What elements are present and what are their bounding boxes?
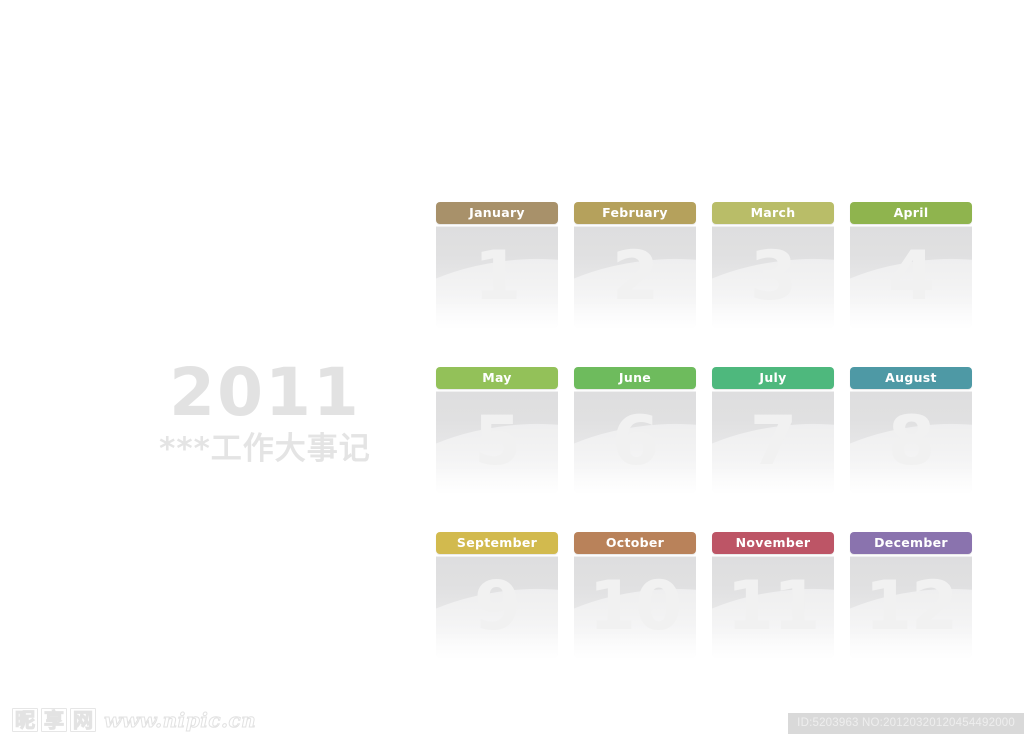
month-card-january[interactable]: January1 [436,202,558,328]
month-body-panel[interactable]: 9 [436,556,558,658]
month-body-panel[interactable]: 8 [850,391,972,493]
month-card-july[interactable]: July7 [712,367,834,493]
site-watermark: 昵享网 www.nipic.cn [12,708,256,732]
month-body-panel[interactable]: 1 [436,226,558,328]
month-number-watermark: 12 [850,573,972,641]
month-card-october[interactable]: October10 [574,532,696,658]
month-body-panel[interactable]: 2 [574,226,696,328]
month-card-february[interactable]: February2 [574,202,696,328]
watermark-logo-char: 享 [41,708,67,732]
watermark-logo-char: 网 [70,708,96,732]
month-number-watermark: 5 [436,408,558,476]
month-body-panel[interactable]: 7 [712,391,834,493]
month-card-march[interactable]: March3 [712,202,834,328]
watermark-url: www.nipic.cn [104,708,256,732]
page-title-year: 2011 [100,360,430,426]
month-card-june[interactable]: June6 [574,367,696,493]
calendar-canvas: 2011 ***工作大事记 January1February2March3Apr… [0,0,1024,740]
month-header-label[interactable]: September [436,532,558,554]
month-body-panel[interactable]: 10 [574,556,696,658]
month-card-december[interactable]: December12 [850,532,972,658]
image-id-bar: ID:5203963 NO:20120320120454492000 [788,713,1024,734]
month-header-label[interactable]: August [850,367,972,389]
month-body-panel[interactable]: 12 [850,556,972,658]
month-header-label[interactable]: April [850,202,972,224]
month-card-september[interactable]: September9 [436,532,558,658]
month-number-watermark: 3 [712,243,834,311]
month-header-label[interactable]: October [574,532,696,554]
month-number-watermark: 7 [712,408,834,476]
month-card-august[interactable]: August8 [850,367,972,493]
month-card-november[interactable]: November11 [712,532,834,658]
month-header-label[interactable]: January [436,202,558,224]
month-number-watermark: 10 [574,573,696,641]
month-number-watermark: 9 [436,573,558,641]
month-body-panel[interactable]: 4 [850,226,972,328]
calendar-month-grid: January1February2March3April4May5June6Ju… [436,202,972,658]
month-card-april[interactable]: April4 [850,202,972,328]
month-header-label[interactable]: June [574,367,696,389]
month-number-watermark: 8 [850,408,972,476]
month-body-panel[interactable]: 5 [436,391,558,493]
page-title-subtitle: ***工作大事记 [100,432,430,466]
month-body-panel[interactable]: 11 [712,556,834,658]
watermark-logo-char: 昵 [12,708,38,732]
watermark-logo-icon: 昵享网 [12,708,96,732]
month-header-label[interactable]: February [574,202,696,224]
month-header-label[interactable]: December [850,532,972,554]
month-header-label[interactable]: July [712,367,834,389]
month-number-watermark: 1 [436,243,558,311]
month-body-panel[interactable]: 3 [712,226,834,328]
month-number-watermark: 6 [574,408,696,476]
month-number-watermark: 2 [574,243,696,311]
title-block: 2011 ***工作大事记 [100,360,430,466]
month-body-panel[interactable]: 6 [574,391,696,493]
month-header-label[interactable]: May [436,367,558,389]
month-header-label[interactable]: March [712,202,834,224]
month-number-watermark: 11 [712,573,834,641]
month-card-may[interactable]: May5 [436,367,558,493]
month-number-watermark: 4 [850,243,972,311]
month-header-label[interactable]: November [712,532,834,554]
